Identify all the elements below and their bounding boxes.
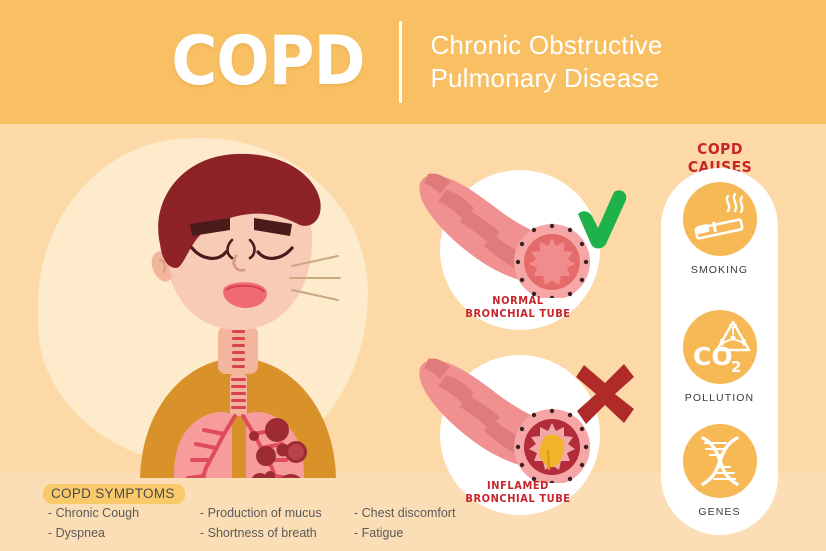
- check-mark-icon: [574, 188, 630, 250]
- inflamed-tube-label-line2: BRONCHIAL TUBE: [429, 493, 608, 506]
- cause-item-pollution[interactable]: CO 2 POLLUTION: [661, 310, 778, 404]
- cause-label-smoking: SMOKING: [661, 264, 778, 276]
- normal-bronchial-card: NORMAL BRONCHIAL TUBE: [418, 160, 618, 330]
- symptom-item: - Dyspnea: [48, 523, 139, 543]
- cause-label-pollution: POLLUTION: [661, 392, 778, 404]
- dna-icon: [683, 424, 757, 498]
- symptoms-heading: COPD SYMPTOMS: [43, 484, 185, 504]
- cause-item-genes[interactable]: GENES: [661, 424, 778, 518]
- symptom-item: - Chronic Cough: [48, 503, 139, 523]
- page-subtitle: Chronic Obstructive Pulmonary Disease: [430, 29, 662, 96]
- cause-label-genes: GENES: [661, 506, 778, 518]
- symptom-item: - Shortness of breath: [200, 523, 322, 543]
- genes-icon-circle: [683, 424, 757, 498]
- co2-hazard-icon: CO 2: [683, 310, 757, 384]
- smoking-icon-circle: [683, 182, 757, 256]
- pollution-icon-circle: CO 2: [683, 310, 757, 384]
- normal-tube-label-line2: BRONCHIAL TUBE: [429, 308, 608, 321]
- symptom-item: - Chest discomfort: [354, 503, 455, 523]
- coughing-man-svg: [120, 148, 410, 478]
- cigarette-icon: [683, 182, 757, 256]
- inflamed-bronchial-tube-icon: [412, 343, 592, 483]
- subtitle-line-1: Chronic Obstructive: [430, 29, 662, 62]
- inflamed-bronchial-card: INFLAMED BRONCHIAL TUBE: [418, 345, 618, 520]
- normal-bronchial-tube-icon: [412, 158, 592, 298]
- character-illustration: [120, 148, 410, 478]
- normal-tube-label: NORMAL BRONCHIAL TUBE: [429, 295, 608, 321]
- svg-text:2: 2: [731, 358, 741, 376]
- inflamed-tube-label: INFLAMED BRONCHIAL TUBE: [429, 480, 608, 506]
- cross-mark-icon: [574, 361, 636, 427]
- cough-lines-icon: [288, 252, 350, 304]
- symptoms-column-3: - Chest discomfort - Fatigue: [354, 503, 455, 544]
- cause-item-smoking[interactable]: SMOKING: [661, 182, 778, 276]
- infographic-canvas: COPD Chronic Obstructive Pulmonary Disea…: [0, 0, 826, 551]
- header-band: COPD Chronic Obstructive Pulmonary Disea…: [0, 0, 826, 124]
- symptoms-column-1: - Chronic Cough - Dyspnea: [48, 503, 139, 544]
- svg-text:CO: CO: [693, 342, 733, 371]
- symptom-item: - Production of mucus: [200, 503, 322, 523]
- page-title: COPD: [172, 28, 365, 96]
- inflamed-tube-label-line1: INFLAMED: [429, 480, 608, 493]
- symptom-item: - Fatigue: [354, 523, 455, 543]
- subtitle-line-2: Pulmonary Disease: [430, 62, 662, 95]
- title-divider: [399, 21, 402, 103]
- symptoms-column-2: - Production of mucus - Shortness of bre…: [200, 503, 322, 544]
- normal-tube-label-line1: NORMAL: [429, 295, 608, 308]
